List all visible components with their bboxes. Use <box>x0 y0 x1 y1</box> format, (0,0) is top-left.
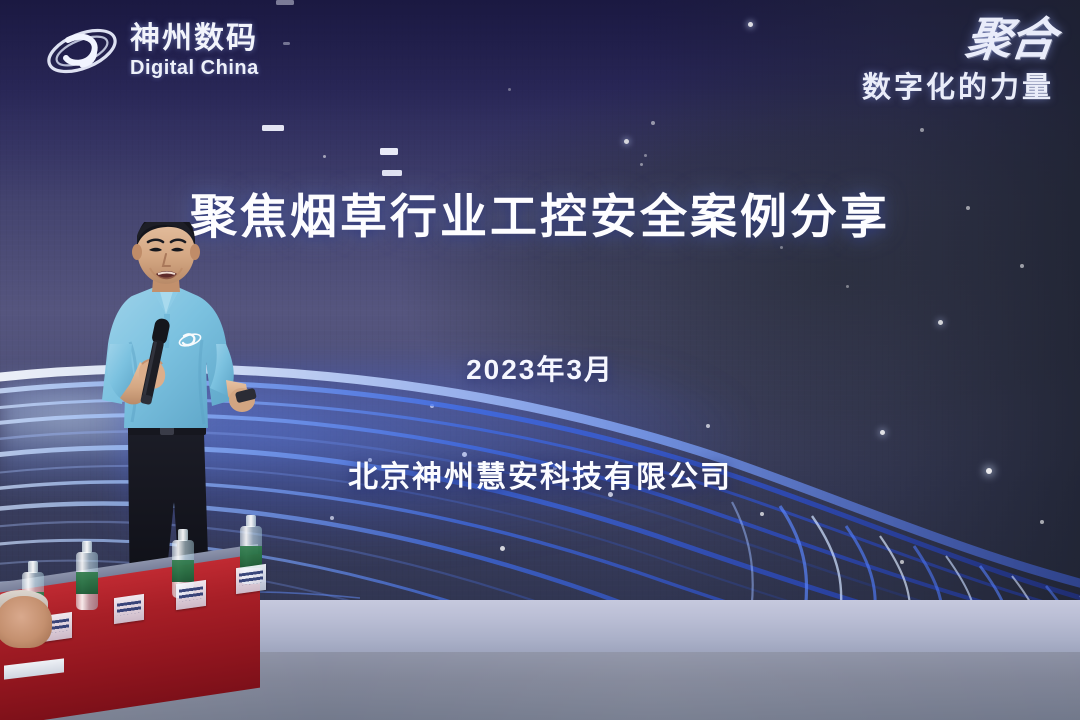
seated-attendee <box>0 596 52 648</box>
event-logo: 聚合 数字化的力量 <box>862 16 1054 106</box>
digital-china-swirl-logo-icon <box>44 20 120 82</box>
event-logo-subtitle: 数字化的力量 <box>862 64 1054 106</box>
name-card <box>176 580 206 610</box>
name-card <box>236 564 266 594</box>
logo-name-en: Digital China <box>130 58 259 78</box>
digital-china-logo: 神州数码 Digital China <box>44 20 259 82</box>
logo-name-cn: 神州数码 <box>130 24 259 54</box>
water-bottle <box>76 552 98 610</box>
event-logo-brush-text: 聚合 <box>963 16 1057 62</box>
stage-photo: 神州数码 Digital China 聚合 数字化的力量 聚焦烟草行业工控安全案… <box>0 0 1080 720</box>
name-card <box>114 594 144 624</box>
